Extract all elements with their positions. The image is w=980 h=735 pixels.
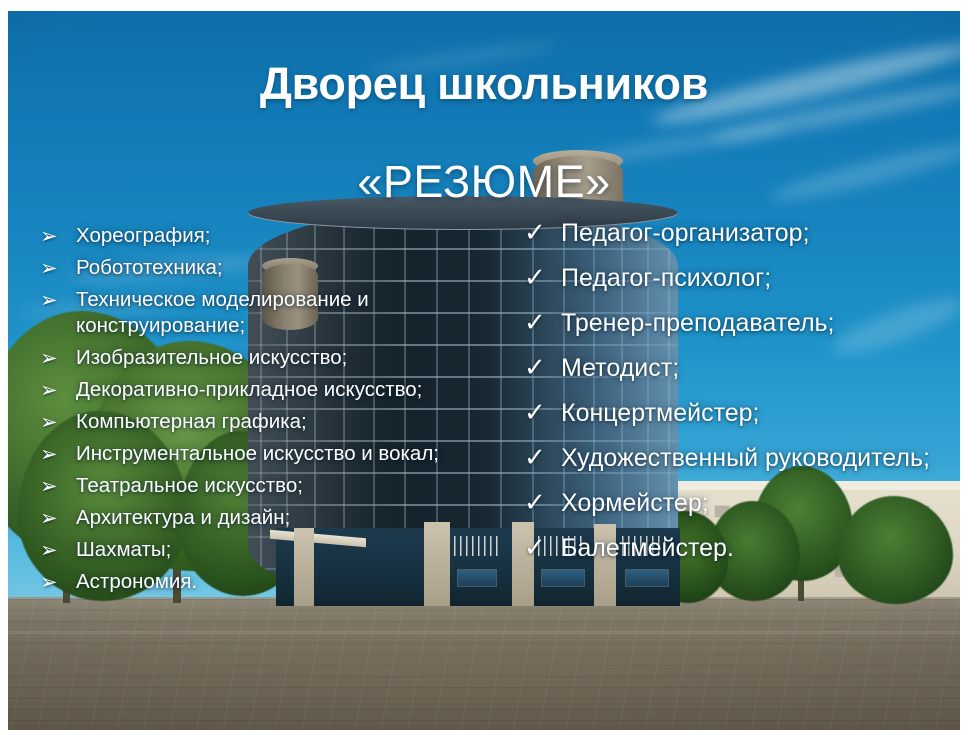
check-bullet-icon: ✓ <box>524 307 546 338</box>
list-item-label: Хореография; <box>76 224 210 247</box>
list-item: ➢Шахматы; <box>30 537 455 563</box>
list-item: ✓Методист; <box>516 353 946 384</box>
list-item-label: Компьютерная графика; <box>76 410 307 433</box>
list-item-label: Декоративно-прикладное искусство; <box>76 378 422 401</box>
list-item: ➢Изобразительное искусство; <box>30 345 455 371</box>
list-item-label: Хормейстер; <box>561 489 709 517</box>
list-item: ➢Компьютерная графика; <box>30 409 455 435</box>
list-item-label: Балетмейстер. <box>561 534 734 562</box>
list-item-label: Художественный руководитель; <box>561 444 930 472</box>
list-item: ➢Инструментальное искусство и вокал; <box>30 441 455 467</box>
check-bullet-icon: ✓ <box>524 262 546 293</box>
arrow-bullet-icon: ➢ <box>40 288 58 313</box>
list-item: ✓Художественный руководитель; <box>516 443 946 474</box>
list-item-label: Педагог-организатор; <box>561 219 810 247</box>
arrow-bullet-icon: ➢ <box>40 506 58 531</box>
check-bullet-icon: ✓ <box>524 487 546 518</box>
list-item: ➢Астрономия. <box>30 569 455 595</box>
slide-background-photo: Дворец школьников «РЕЗЮМЕ» ➢Хореография;… <box>8 11 960 730</box>
list-item-label: Изобразительное искусство; <box>76 346 347 369</box>
list-item: ✓Концертмейстер; <box>516 398 946 429</box>
arrow-bullet-icon: ➢ <box>40 538 58 563</box>
check-bullet-icon: ✓ <box>524 442 546 473</box>
arrow-bullet-icon: ➢ <box>40 256 58 281</box>
arrow-bullet-icon: ➢ <box>40 570 58 595</box>
check-bullet-icon: ✓ <box>524 217 546 248</box>
list-item-label: Техническое моделирование и конструирова… <box>76 288 369 337</box>
list-item: ➢Театральное искусство; <box>30 473 455 499</box>
arrow-bullet-icon: ➢ <box>40 346 58 371</box>
list-item-label: Астрономия. <box>76 570 197 593</box>
arrow-bullet-icon: ➢ <box>40 224 58 249</box>
list-item-label: Театральное искусство; <box>76 474 303 497</box>
list-item-label: Тренер-преподаватель; <box>561 309 835 337</box>
list-item: ✓Тренер-преподаватель; <box>516 308 946 339</box>
list-item-label: Педагог-психолог; <box>561 264 771 292</box>
arrow-bullet-icon: ➢ <box>40 474 58 499</box>
check-bullet-icon: ✓ <box>524 352 546 383</box>
list-item: ➢Хореография; <box>30 223 455 249</box>
staff-roles-list: ✓Педагог-организатор; ✓Педагог-психолог;… <box>516 218 946 578</box>
programs-list: ➢Хореография; ➢Робототехника; ➢Техническ… <box>30 223 455 601</box>
list-item: ✓Хормейстер; <box>516 488 946 519</box>
list-item-label: Архитектура и дизайн; <box>76 506 290 529</box>
page-title: Дворец школьников <box>8 58 960 110</box>
presentation-slide: Дворец школьников «РЕЗЮМЕ» ➢Хореография;… <box>0 0 980 735</box>
page-subtitle: «РЕЗЮМЕ» <box>8 156 960 208</box>
list-item-label: Шахматы; <box>76 538 171 561</box>
list-item: ✓Педагог-организатор; <box>516 218 946 249</box>
arrow-bullet-icon: ➢ <box>40 378 58 403</box>
slide-text-layer: Дворец школьников «РЕЗЮМЕ» ➢Хореография;… <box>8 11 960 730</box>
list-item: ➢Робототехника; <box>30 255 455 281</box>
list-item: ➢Техническое моделирование и конструиров… <box>30 287 455 339</box>
list-item-label: Концертмейстер; <box>561 399 760 427</box>
list-item-label: Инструментальное искусство и вокал; <box>76 442 439 465</box>
check-bullet-icon: ✓ <box>524 532 546 563</box>
list-item: ➢Архитектура и дизайн; <box>30 505 455 531</box>
arrow-bullet-icon: ➢ <box>40 442 58 467</box>
list-item: ➢Декоративно-прикладное искусство; <box>30 377 455 403</box>
check-bullet-icon: ✓ <box>524 397 546 428</box>
list-item-label: Методист; <box>561 354 679 382</box>
arrow-bullet-icon: ➢ <box>40 410 58 435</box>
list-item-label: Робототехника; <box>76 256 223 279</box>
list-item: ✓Балетмейстер. <box>516 533 946 564</box>
list-item: ✓Педагог-психолог; <box>516 263 946 294</box>
